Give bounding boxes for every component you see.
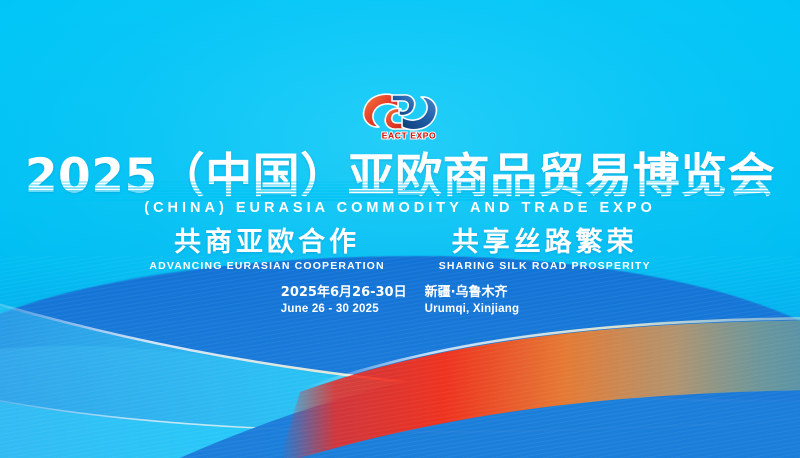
event-meta: 2025年6月26-30日 新疆·乌鲁木齐 June 26 - 30 2025 … xyxy=(0,284,800,317)
event-venue-en: Urumqi, Xinjiang xyxy=(425,301,520,317)
logo[interactable]: EACT EXPO EACT EXPO xyxy=(0,83,800,141)
slogan-group: 共商亚欧合作 ADVANCING EURASIAN COOPERATION 共享… xyxy=(0,228,800,272)
page-title-text: 2025（中国）亚欧商品贸易博览会 xyxy=(25,149,775,204)
page-title: 2025（中国）亚欧商品贸易博览会 xyxy=(25,152,775,202)
slogan-1-cn: 共商亚欧合作 xyxy=(149,228,384,258)
slogan-2: 共享丝路繁荣 SHARING SILK ROAD PROSPERITY xyxy=(439,228,651,272)
logo-wordmark-fill: EACT EXPO xyxy=(382,131,437,141)
slogan-2-en: SHARING SILK ROAD PROSPERITY xyxy=(439,260,651,272)
eact-expo-emblem-icon: EACT EXPO EACT EXPO xyxy=(352,83,448,141)
event-venue-cn: 新疆·乌鲁木齐 xyxy=(425,284,520,301)
slogan-1: 共商亚欧合作 ADVANCING EURASIAN COOPERATION xyxy=(149,228,384,272)
event-date-en: June 26 - 30 2025 xyxy=(281,301,407,317)
slogan-1-en: ADVANCING EURASIAN COOPERATION xyxy=(149,260,384,272)
title-block: 2025（中国）亚欧商品贸易博览会 (CHINA) EURASIA COMMOD… xyxy=(0,152,800,216)
event-date-cn: 2025年6月26-30日 xyxy=(281,284,407,301)
slogan-2-cn: 共享丝路繁荣 xyxy=(439,228,651,258)
expo-poster: EACT EXPO EACT EXPO 2025（中国）亚欧商品贸易博览会 (C… xyxy=(0,0,800,458)
